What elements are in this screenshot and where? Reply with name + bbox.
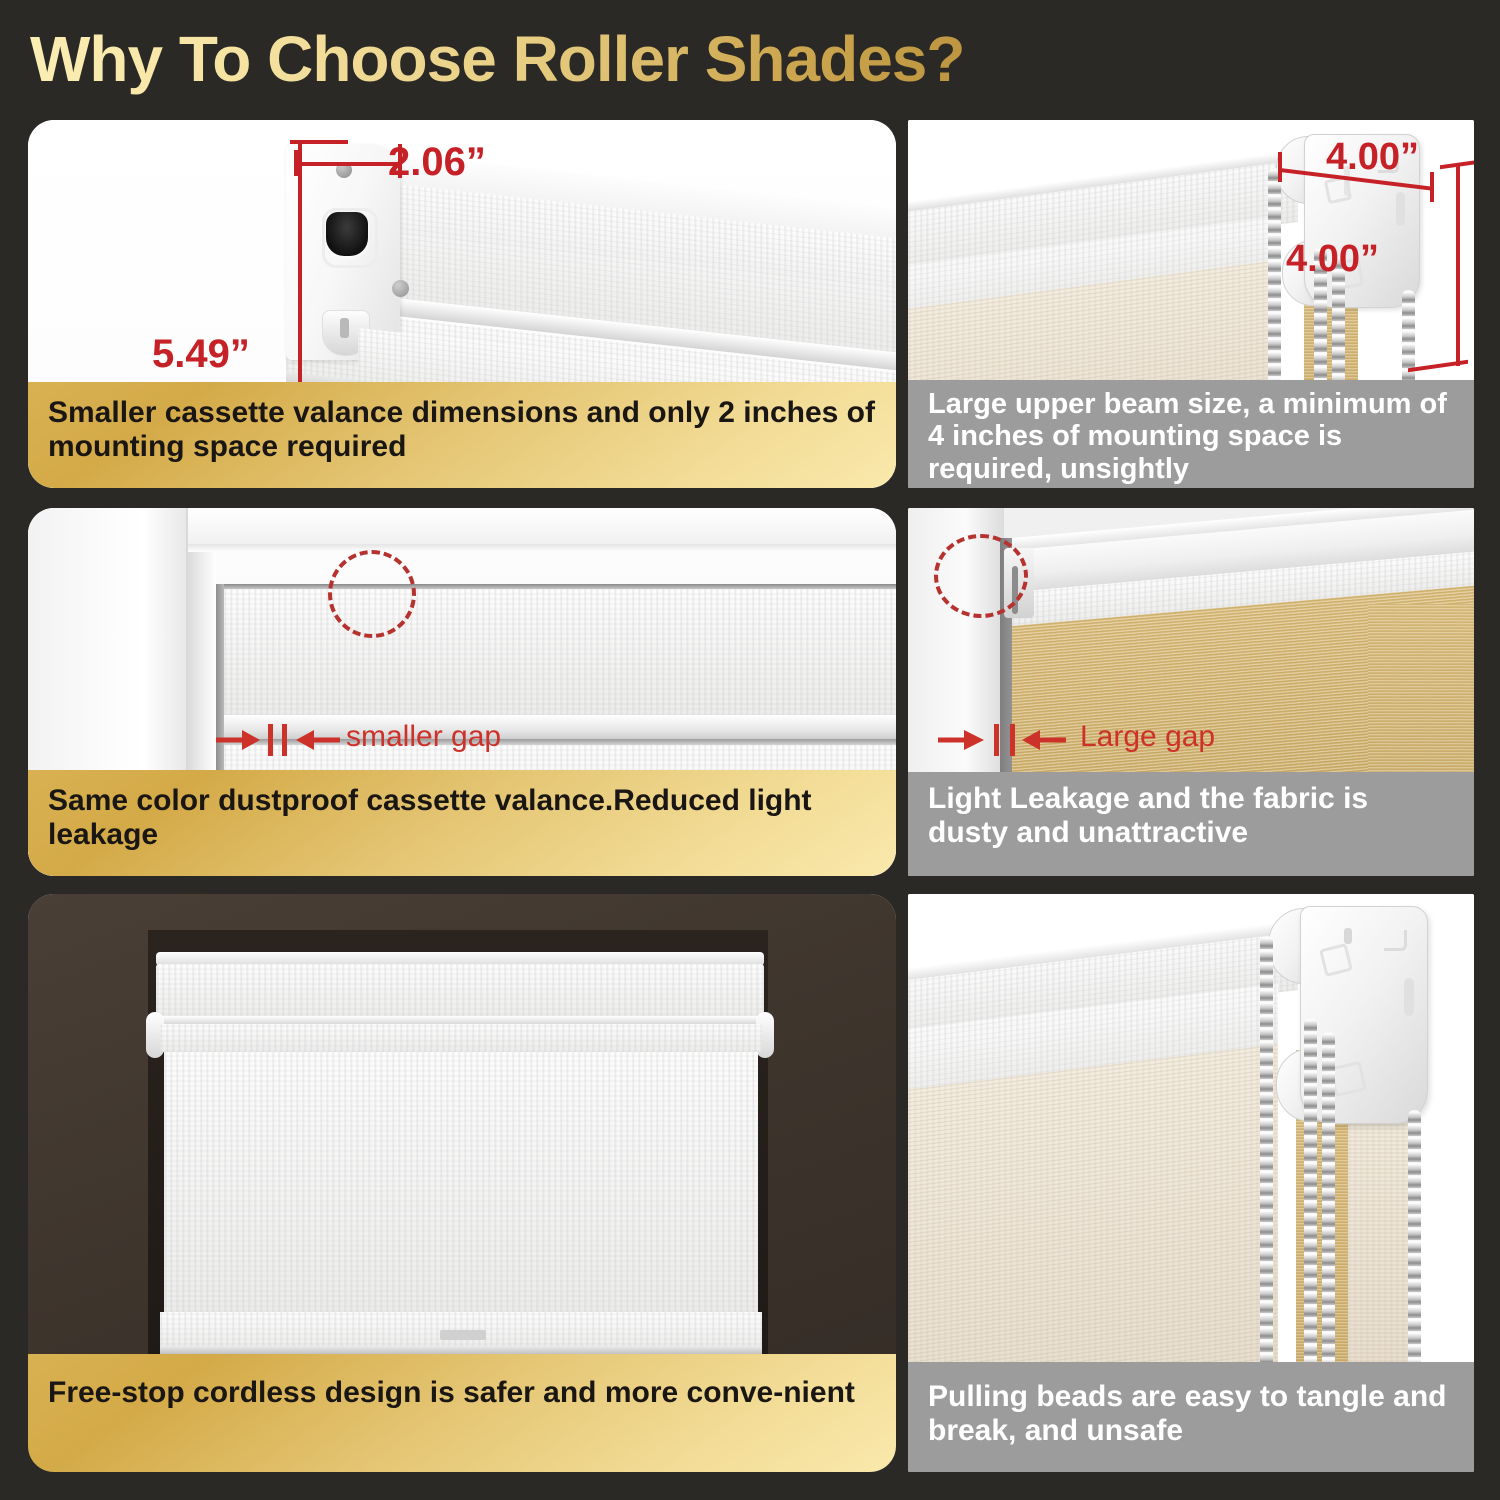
caption-middle-right: Light Leakage and the fabric is dusty an… xyxy=(908,772,1474,876)
large-gap-label: Large gap xyxy=(1080,720,1215,754)
height-dimension-cap-top xyxy=(290,140,348,144)
bead-chain-mid-b xyxy=(1322,1032,1335,1374)
page-title: Why To Choose Roller Shades? xyxy=(30,22,964,96)
panel-bottom-right: Pulling beads are easy to tangle and bre… xyxy=(908,894,1474,1472)
height-dimension-label: 5.49” xyxy=(152,332,250,377)
gap-highlight-ellipse xyxy=(328,550,416,638)
beam-height-label: 4.00” xyxy=(1286,238,1379,281)
leak-highlight-ellipse xyxy=(934,534,1028,618)
beam-height-dimension-line xyxy=(1456,164,1460,366)
beam-width-cap-right xyxy=(1430,172,1434,202)
smaller-gap-label: smaller gap xyxy=(346,720,501,754)
bead-chain-left xyxy=(1260,936,1273,1372)
large-gap-arrows xyxy=(938,720,1088,760)
panel-middle-left: smaller gap Same color dustproof cassett… xyxy=(28,508,896,876)
panel-middle-right: Large gap Light Leakage and the fabric i… xyxy=(908,508,1474,876)
width-dimension-line xyxy=(296,162,400,166)
beam-width-label: 4.00” xyxy=(1326,136,1419,179)
caption-top-left: Smaller cassette valance dimensions and … xyxy=(28,382,896,488)
beam-width-cap-left xyxy=(1278,152,1282,182)
bead-chain-4 xyxy=(1402,290,1415,390)
width-dimension-label: 2.06” xyxy=(388,140,486,185)
panel-top-left: 2.06” 5.49” Smaller cassette valance dim… xyxy=(28,120,896,488)
title-bar: Why To Choose Roller Shades? xyxy=(0,0,1500,112)
panel-top-right: 4.00” 4.00” Large upper beam size, a min… xyxy=(908,120,1474,488)
panel-bottom-left: Free-stop cordless design is safer and m… xyxy=(28,894,896,1472)
caption-middle-left: Same color dustproof cassette valance.Re… xyxy=(28,770,896,876)
bead-chain-mid-a xyxy=(1304,1018,1317,1374)
caption-bottom-left: Free-stop cordless design is safer and m… xyxy=(28,1354,896,1472)
bead-chain-1 xyxy=(1268,168,1281,388)
bead-chain-right xyxy=(1408,1110,1421,1374)
caption-top-right: Large upper beam size, a minimum of 4 in… xyxy=(908,380,1474,488)
gap-arrows xyxy=(216,720,356,760)
caption-bottom-right: Pulling beads are easy to tangle and bre… xyxy=(908,1362,1474,1472)
